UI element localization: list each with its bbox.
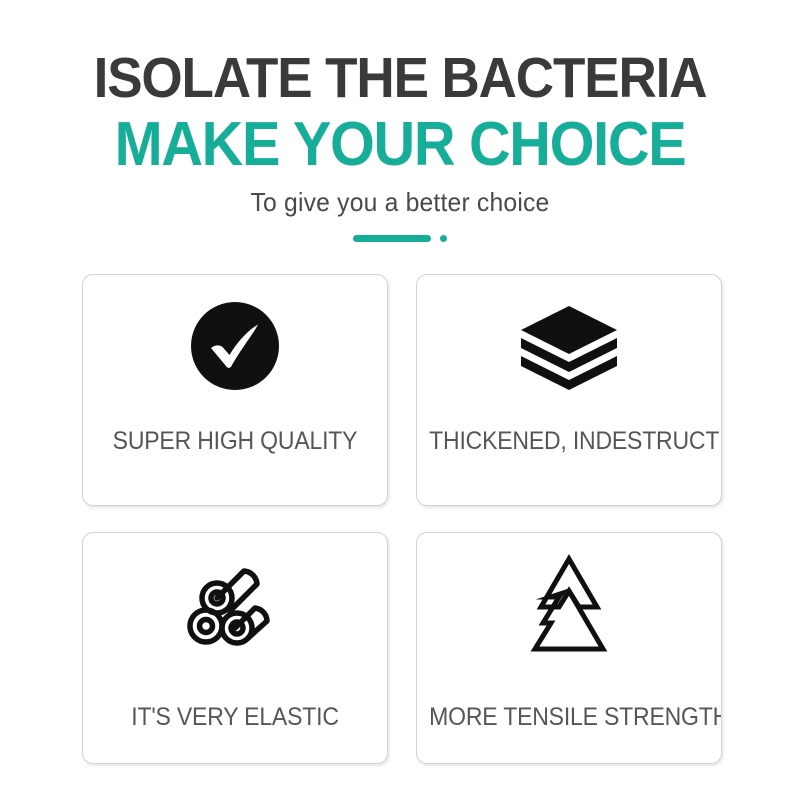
feature-card-super-high-quality[interactable]: SUPER HIGH QUALITY bbox=[82, 274, 388, 506]
feature-card-label: MORE TENSILE STRENGTH bbox=[429, 703, 709, 731]
headline-primary: ISOLATE THE BACTERIA bbox=[28, 0, 772, 108]
feature-card-grid: SUPER HIGH QUALITY THICKENED, bbox=[82, 274, 722, 764]
divider-dot-icon bbox=[440, 235, 447, 242]
check-circle-icon bbox=[83, 275, 387, 403]
infographic-page: ISOLATE THE BACTERIA MAKE YOUR CHOICE To… bbox=[0, 0, 800, 800]
headline-secondary: MAKE YOUR CHOICE bbox=[28, 108, 772, 178]
feature-card-label: THICKENED, INDESTRUCTIBLE bbox=[429, 427, 709, 455]
feature-card-thickened-indestructible[interactable]: THICKENED, INDESTRUCTIBLE bbox=[416, 274, 722, 506]
card-label-wrap: MORE TENSILE STRENGTH bbox=[417, 703, 721, 731]
header-block: ISOLATE THE BACTERIA MAKE YOUR CHOICE To… bbox=[0, 0, 800, 242]
feature-card-label: IT'S VERY ELASTIC bbox=[95, 703, 375, 731]
subtitle: To give you a better choice bbox=[20, 178, 780, 217]
feature-card-more-tensile-strength[interactable]: MORE TENSILE STRENGTH bbox=[416, 532, 722, 764]
divider bbox=[0, 217, 800, 242]
card-label-wrap: THICKENED, INDESTRUCTIBLE bbox=[417, 427, 721, 455]
pine-tree-icon bbox=[417, 533, 721, 661]
feature-card-its-very-elastic[interactable]: IT'S VERY ELASTIC bbox=[82, 532, 388, 764]
elastic-rolls-icon bbox=[83, 533, 387, 661]
card-label-wrap: IT'S VERY ELASTIC bbox=[83, 703, 387, 731]
stacked-layers-icon bbox=[417, 275, 721, 403]
feature-card-label: SUPER HIGH QUALITY bbox=[95, 427, 375, 455]
divider-bar bbox=[353, 235, 431, 242]
card-label-wrap: SUPER HIGH QUALITY bbox=[83, 427, 387, 455]
